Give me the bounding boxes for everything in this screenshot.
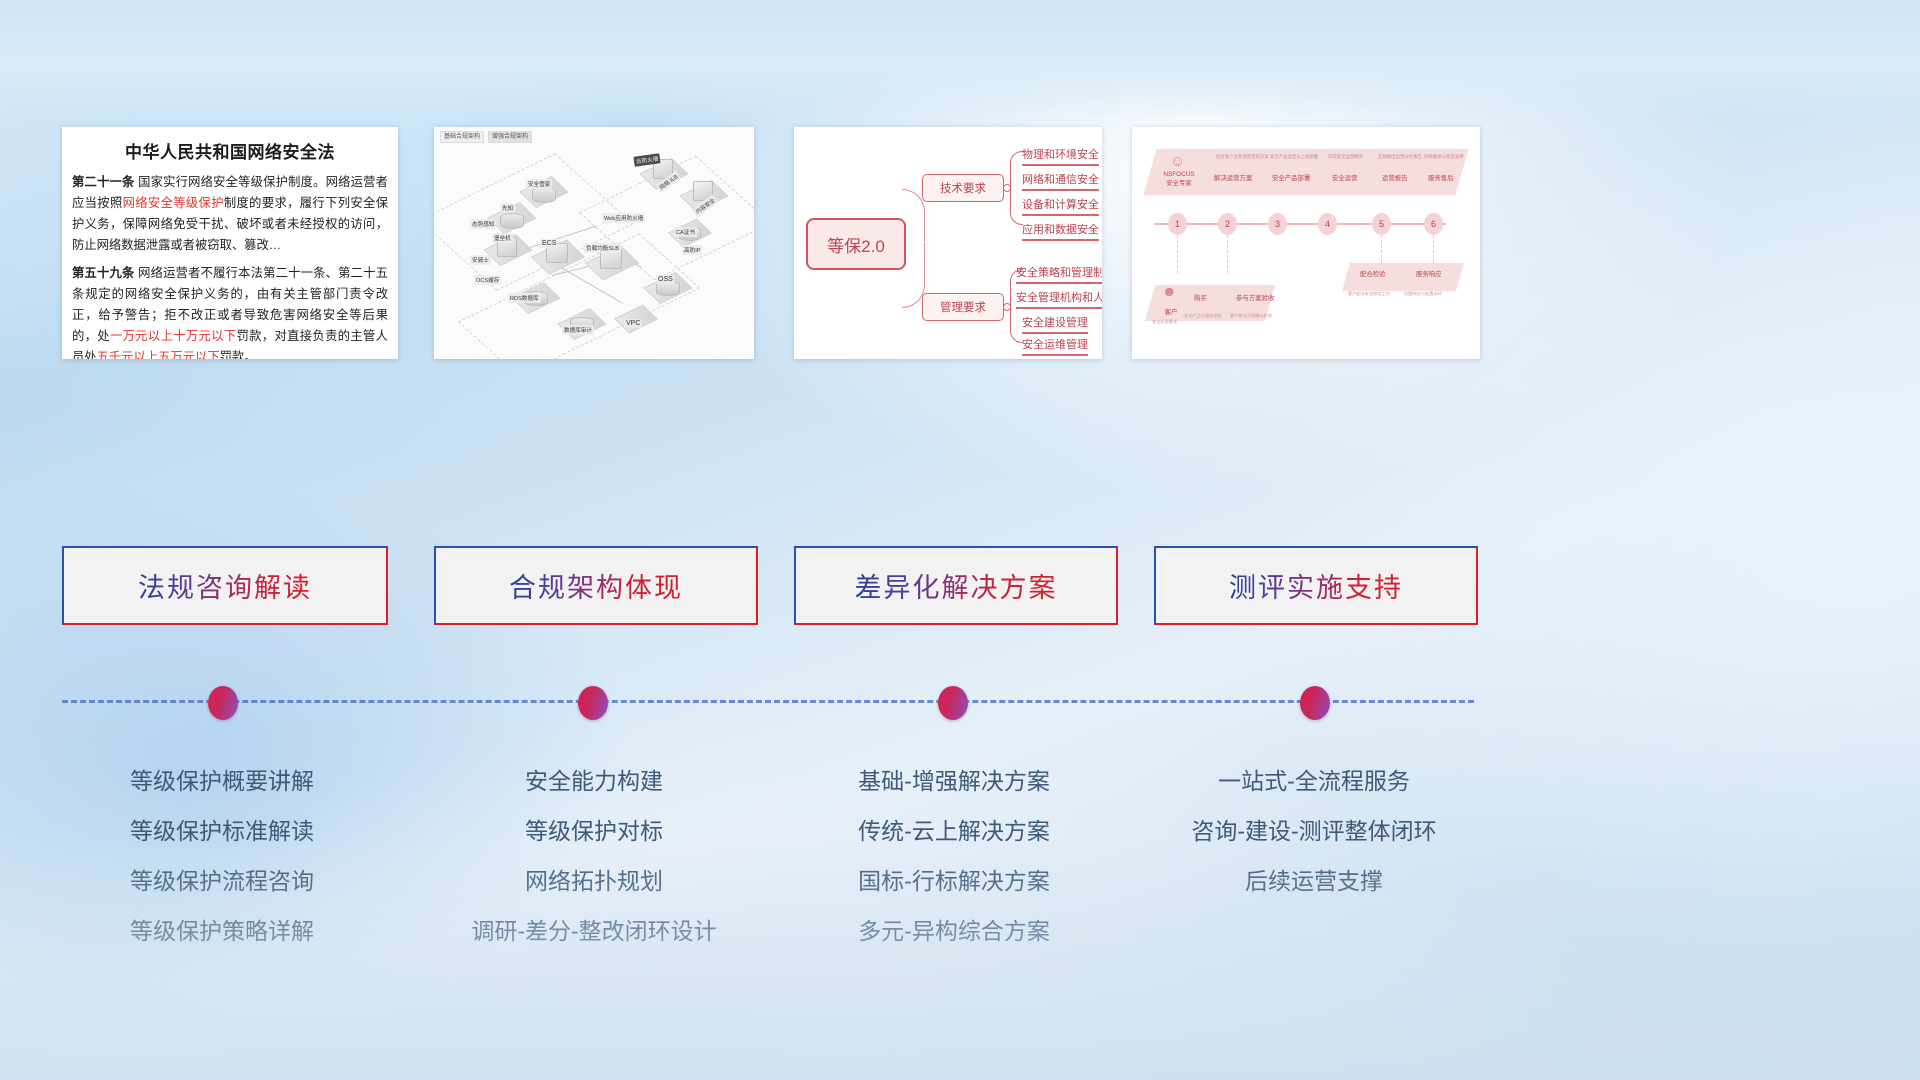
section-headings: 法规咨询解读 合规架构体现 差异化解决方案 测评实施支持 等级保护概要讲解 等级… bbox=[0, 0, 1920, 1080]
timeline-dot-2 bbox=[578, 686, 608, 720]
list-item: 等级保护标准解读 bbox=[62, 806, 382, 856]
list-item: 等级保护策略详解 bbox=[62, 906, 382, 956]
list-item: 调研-差分-整改闭环设计 bbox=[434, 906, 754, 956]
list-item: 咨询-建设-测评整体闭环 bbox=[1154, 806, 1474, 856]
list-item: 传统-云上解决方案 bbox=[794, 806, 1114, 856]
list-item: 等级保护对标 bbox=[434, 806, 754, 856]
heading-label-3: 差异化解决方案 bbox=[855, 566, 1058, 605]
slide-canvas: 中华人民共和国网络安全法 第二十一条 国家实行网络安全等级保护制度。网络运营者应… bbox=[0, 0, 1920, 1080]
list-item: 等级保护流程咨询 bbox=[62, 856, 382, 906]
heading-box-3[interactable]: 差异化解决方案 bbox=[794, 546, 1118, 625]
list-item: 后续运营支撑 bbox=[1154, 856, 1474, 906]
bullet-column-3: 基础-增强解决方案 传统-云上解决方案 国标-行标解决方案 多元-异构综合方案 bbox=[794, 756, 1114, 956]
timeline-dot-4 bbox=[1300, 686, 1330, 720]
heading-box-1[interactable]: 法规咨询解读 bbox=[62, 546, 388, 625]
list-item: 国标-行标解决方案 bbox=[794, 856, 1114, 906]
list-item: 安全能力构建 bbox=[434, 756, 754, 806]
heading-box-2[interactable]: 合规架构体现 bbox=[434, 546, 758, 625]
heading-label-1: 法规咨询解读 bbox=[138, 566, 312, 605]
timeline-dot-3 bbox=[938, 686, 968, 720]
heading-label-4: 测评实施支持 bbox=[1229, 566, 1403, 605]
list-item: 等级保护概要讲解 bbox=[62, 756, 382, 806]
list-item: 基础-增强解决方案 bbox=[794, 756, 1114, 806]
list-item: 一站式-全流程服务 bbox=[1154, 756, 1474, 806]
list-item: 多元-异构综合方案 bbox=[794, 906, 1114, 956]
heading-label-2: 合规架构体现 bbox=[509, 566, 683, 605]
timeline-dashed-line bbox=[62, 700, 1474, 703]
heading-box-4[interactable]: 测评实施支持 bbox=[1154, 546, 1478, 625]
bullet-column-4: 一站式-全流程服务 咨询-建设-测评整体闭环 后续运营支撑 bbox=[1154, 756, 1474, 906]
bullet-column-1: 等级保护概要讲解 等级保护标准解读 等级保护流程咨询 等级保护策略详解 bbox=[62, 756, 382, 956]
timeline-dot-1 bbox=[208, 686, 238, 720]
list-item: 网络拓扑规划 bbox=[434, 856, 754, 906]
bullet-column-2: 安全能力构建 等级保护对标 网络拓扑规划 调研-差分-整改闭环设计 bbox=[434, 756, 754, 956]
